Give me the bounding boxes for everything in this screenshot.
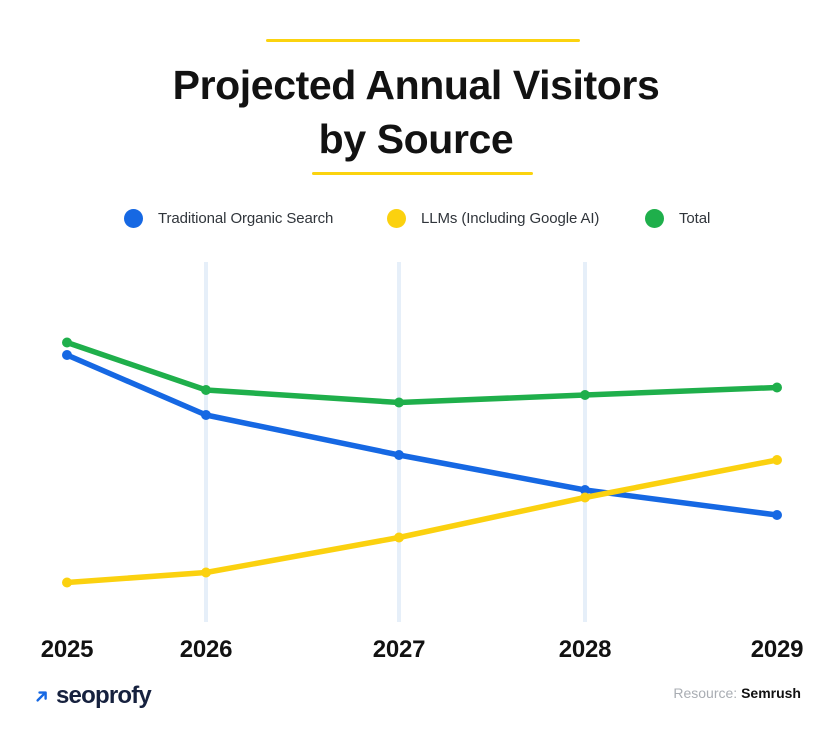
series-line [67,460,777,583]
resource-label: Resource: [673,685,737,701]
data-point-marker[interactable] [62,350,72,360]
seoprofy-logo[interactable]: seoprofy [33,681,151,711]
data-point-marker[interactable] [394,398,404,408]
x-axis-labels: 2025 2026 2027 2028 2029 [0,636,832,668]
series-line [67,343,777,403]
data-point-marker[interactable] [201,385,211,395]
data-point-marker[interactable] [772,510,782,520]
chart-series-2 [62,455,782,588]
resource-name: Semrush [741,685,801,701]
x-tick-2028: 2028 [559,636,612,664]
x-tick-2026: 2026 [180,636,233,664]
x-tick-2027: 2027 [373,636,426,664]
data-point-marker[interactable] [394,450,404,460]
data-point-marker[interactable] [580,390,590,400]
infographic-chart-card: Projected Annual Visitors by Source Trad… [0,0,832,741]
brand-name: seoprofy [56,682,151,710]
data-point-marker[interactable] [62,578,72,588]
data-point-marker[interactable] [201,410,211,420]
data-point-marker[interactable] [394,533,404,543]
footer: seoprofy Resource: Semrush [0,681,832,717]
data-point-marker[interactable] [580,493,590,503]
resource-credit: Resource: Semrush [673,685,801,701]
data-point-marker[interactable] [772,455,782,465]
x-tick-2029: 2029 [751,636,804,664]
data-point-marker[interactable] [772,383,782,393]
x-tick-2025: 2025 [41,636,94,664]
chart-series-layer [62,338,782,588]
line-chart-plot-area [0,0,832,741]
chart-gridlines [206,262,585,622]
data-point-marker[interactable] [201,568,211,578]
data-point-marker[interactable] [62,338,72,348]
chart-svg [0,0,832,741]
arrow-up-right-icon [33,688,50,705]
